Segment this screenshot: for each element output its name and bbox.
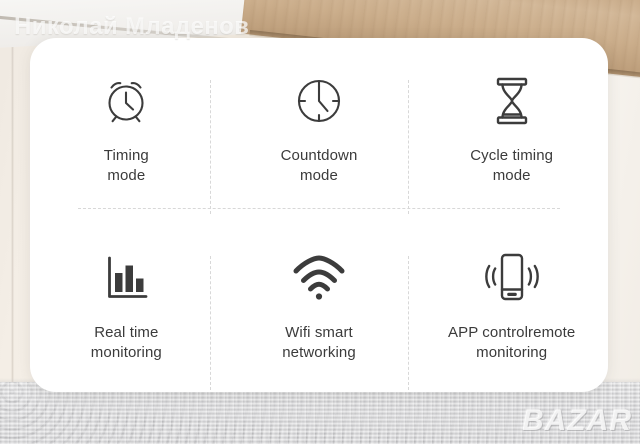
feature-cell-real-time-monitoring: Real time monitoring [30,215,223,392]
feature-label: Timing mode [104,146,149,186]
feature-cell-cycle-timing-mode: Cycle timing mode [415,38,608,215]
background-wall-seam [11,0,14,398]
vibrating-phone-icon [481,249,543,307]
feature-label: Countdown mode [281,146,358,186]
feature-label: Real time monitoring [91,323,162,363]
feature-label: Cycle timing mode [470,146,553,186]
feature-card: Timing mode Countdown mode [30,38,608,392]
grid-divider-vertical-left-top [210,80,211,214]
feature-cell-countdown-mode: Countdown mode [223,38,416,215]
feature-cell-timing-mode: Timing mode [30,38,223,215]
alarm-clock-icon [98,72,154,130]
grid-divider-horizontal [78,208,560,209]
bar-chart-icon [98,249,154,307]
grid-divider-vertical-left-bottom [210,256,211,390]
wall-clock-icon [291,72,347,130]
feature-grid: Timing mode Countdown mode [30,38,608,392]
wifi-icon [290,249,348,307]
product-feature-banner: Timing mode Countdown mode [0,0,640,444]
hourglass-icon [484,72,540,130]
feature-cell-app-control-remote-monitoring: APP controlremote monitoring [415,215,608,392]
grid-divider-vertical-right-top [408,80,409,214]
feature-label: APP controlremote monitoring [448,323,575,363]
grid-divider-vertical-right-bottom [408,256,409,390]
feature-cell-wifi-smart-networking: Wifi smart networking [223,215,416,392]
feature-label: Wifi smart networking [282,323,356,363]
